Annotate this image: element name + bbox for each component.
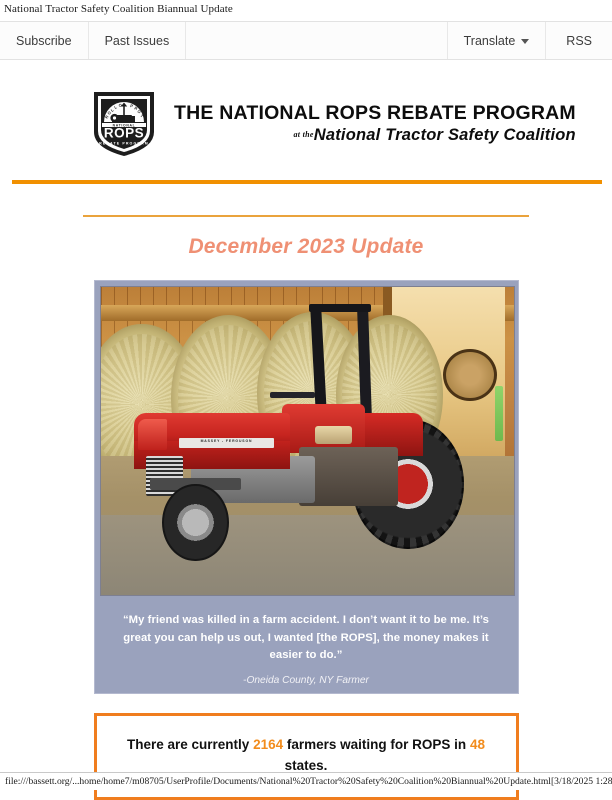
- brand-text: THE NATIONAL ROPS REBATE PROGRAM at theN…: [174, 100, 576, 145]
- month-heading: December 2023 Update: [0, 235, 612, 259]
- stats-middle: farmers waiting for ROPS in: [287, 737, 466, 752]
- testimonial-attribution: -Oneida County, NY Farmer: [122, 675, 491, 686]
- divider-thick-orange: [12, 180, 602, 184]
- stats-suffix: states.: [285, 758, 328, 773]
- stats-sentence: There are currently 2164 farmers waiting…: [123, 734, 490, 777]
- testimonial-quote: “My friend was killed in a farm accident…: [122, 612, 491, 665]
- brand-tagline: at theNational Tractor Safety Coalition: [174, 126, 576, 145]
- stats-farmers-count: 2164: [253, 737, 283, 752]
- nav-spacer: [186, 22, 447, 59]
- nav-item-subscribe-label: Subscribe: [16, 34, 72, 48]
- barn-wagon-wheel-icon: [443, 349, 497, 401]
- rops-logo-badge-icon: R O L L O P R O T NATI: [88, 86, 160, 158]
- stats-states-count: 48: [470, 737, 485, 752]
- nav-item-subscribe[interactable]: Subscribe: [0, 22, 89, 59]
- brand-tagline-prefix: at the: [293, 130, 313, 139]
- svg-text:ROPS: ROPS: [104, 126, 144, 141]
- top-navigation-bar: Subscribe Past Issues Translate RSS: [0, 21, 612, 60]
- tractor-photo: MASSEY - FERGUSON: [100, 286, 515, 596]
- nav-item-rss[interactable]: RSS: [546, 22, 612, 59]
- nav-item-translate-label: Translate: [464, 34, 516, 48]
- brand-title: THE NATIONAL ROPS REBATE PROGRAM: [174, 102, 576, 125]
- rops-roll-bar-top: [309, 304, 371, 312]
- tractor-brand-badge: MASSEY - FERGUSON: [179, 438, 274, 448]
- browser-status-bar: file:///bassett.org/...home/home7/m08705…: [0, 772, 612, 790]
- testimonial-block: “My friend was killed in a farm accident…: [100, 596, 513, 693]
- tractor-brand-label: MASSEY - FERGUSON: [179, 438, 274, 444]
- nav-item-past-issues[interactable]: Past Issues: [89, 22, 187, 59]
- nav-item-rss-label: RSS: [566, 34, 592, 48]
- tractor-front-wheel: [162, 484, 228, 561]
- nav-item-translate[interactable]: Translate: [448, 22, 547, 59]
- nav-item-past-issues-label: Past Issues: [105, 34, 170, 48]
- divider-thin-orange: [83, 215, 529, 217]
- stats-prefix: There are currently: [127, 737, 249, 752]
- brand-tagline-text: National Tractor Safety Coalition: [314, 126, 576, 144]
- chevron-down-icon: [521, 39, 529, 44]
- svg-text:REBATE PROGRAM: REBATE PROGRAM: [99, 142, 149, 146]
- page-title: National Tractor Safety Coalition Biannu…: [0, 0, 612, 15]
- feature-card: MASSEY - FERGUSON “My friend was killed …: [94, 280, 519, 694]
- brand-header: R O L L O P R O T NATI: [0, 60, 612, 158]
